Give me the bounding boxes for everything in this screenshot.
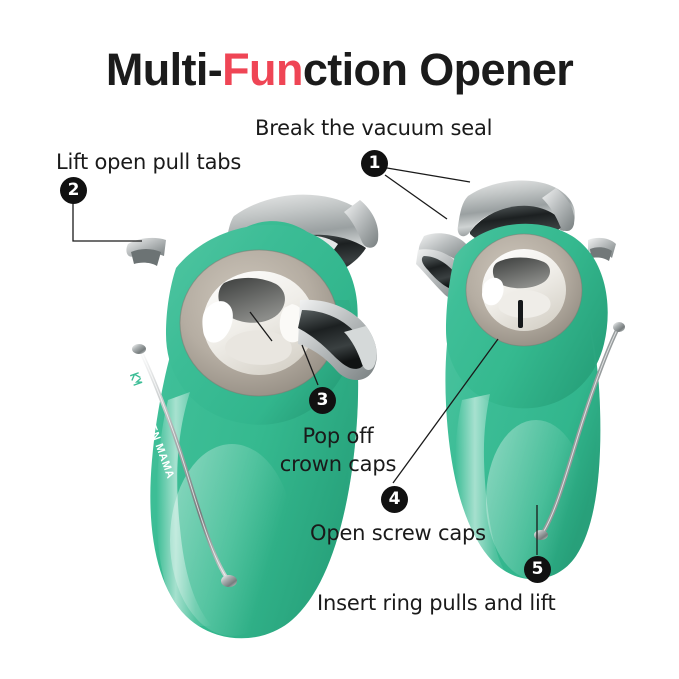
page-title: Multi-Function Opener xyxy=(0,44,679,96)
product-infographic: KITCHEN MAMA xyxy=(0,0,679,679)
title-suffix: ction Opener xyxy=(303,44,573,95)
callout-number-5: 5 xyxy=(524,556,551,583)
leader-line-1b xyxy=(385,175,447,219)
rear-seam-end-bottom xyxy=(534,530,548,540)
rear-seam-end-top xyxy=(613,322,625,332)
callout-label-5: Insert ring pulls and lift xyxy=(317,589,556,617)
callout-number-2: 2 xyxy=(60,177,87,204)
callout-label-1: Break the vacuum seal xyxy=(255,114,492,142)
callout-number-4: 4 xyxy=(381,486,408,513)
callout-number-1: 1 xyxy=(361,150,388,177)
seam-end-top xyxy=(132,344,146,354)
brand-logo-mark xyxy=(126,369,145,388)
callout-label-4: Open screw caps xyxy=(310,519,486,547)
seam-end-bottom xyxy=(221,575,237,587)
callout-label-2: Lift open pull tabs xyxy=(56,148,241,176)
crown-cap-slot-rear xyxy=(518,300,523,328)
callout-number-3: 3 xyxy=(309,387,336,414)
callout-label-3-line2: crown caps xyxy=(268,450,408,478)
callout-label-3-line1: Pop off xyxy=(278,422,398,450)
pull-tab-hook-shadow xyxy=(131,249,161,266)
opener-illustration: KITCHEN MAMA xyxy=(0,0,679,679)
leader-line-1a xyxy=(387,168,470,182)
title-prefix: Multi- xyxy=(106,44,222,95)
opener-front-view: KITCHEN MAMA xyxy=(126,195,378,639)
title-accent: Fun xyxy=(222,44,303,95)
